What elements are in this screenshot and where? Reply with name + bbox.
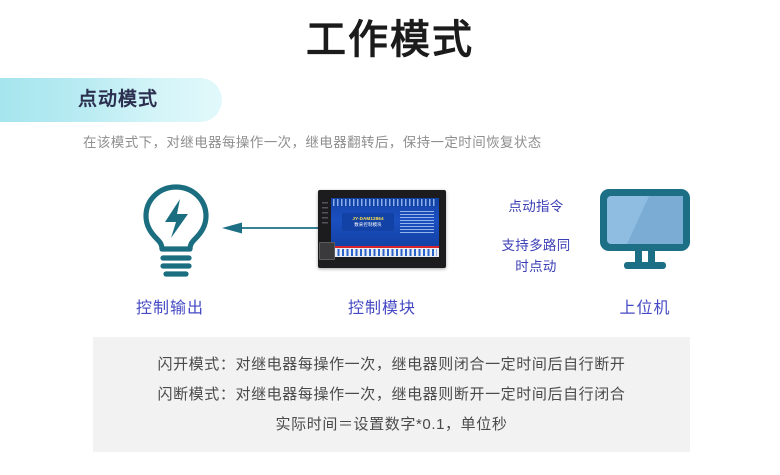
- module-db9-connector: [319, 242, 335, 260]
- note-line: 闪断模式：对继电器每操作一次，继电器则断开一定时间后自行闭合: [157, 383, 625, 407]
- section-badge-label: 点动模式: [78, 88, 158, 112]
- lightbulb-icon: [133, 180, 219, 278]
- module-printed-spec-text: [400, 211, 434, 233]
- note-line: 实际时间＝设置数字*0.1，单位秒: [276, 413, 508, 437]
- module-subtitle-text: 数采控制模块: [354, 222, 382, 228]
- arrow-label-multichannel-line2: 时点动: [486, 256, 586, 277]
- section-description: 在该模式下，对继电器每操作一次，继电器翻转后，保持一定时间恢复状态: [83, 133, 542, 153]
- lightning-bolt-glyph: [165, 199, 188, 238]
- caption-control-output: 控制输出: [122, 298, 218, 320]
- arrow-label-command: 点动指令: [486, 198, 586, 216]
- control-module-device: JY-DAM12864 数采控制模块: [318, 190, 446, 268]
- caption-host-computer: 上位机: [597, 298, 693, 320]
- module-status-leds: [322, 202, 328, 224]
- arrow-label-multichannel: 支持多路同 时点动: [486, 235, 586, 277]
- monitor-icon: [597, 186, 693, 274]
- page-title: 工作模式: [0, 16, 780, 64]
- note-text-block: 闪开模式：对继电器每操作一次，继电器则闭合一定时间后自行断开 闪断模式：对继电器…: [93, 337, 690, 452]
- module-bottom-terminals: [333, 249, 437, 256]
- caption-control-module: 控制模块: [334, 298, 430, 320]
- module-chassis: JY-DAM12864 数采控制模块: [318, 190, 446, 268]
- note-line: 闪开模式：对继电器每操作一次，继电器则闭合一定时间后自行断开: [157, 353, 625, 377]
- diagram-illustration: JY-DAM12864 数采控制模块: [0, 168, 780, 318]
- module-product-label: JY-DAM12864 数采控制模块: [342, 213, 394, 231]
- module-top-terminals: [333, 199, 437, 206]
- arrow-label-multichannel-line1: 支持多路同: [486, 235, 586, 256]
